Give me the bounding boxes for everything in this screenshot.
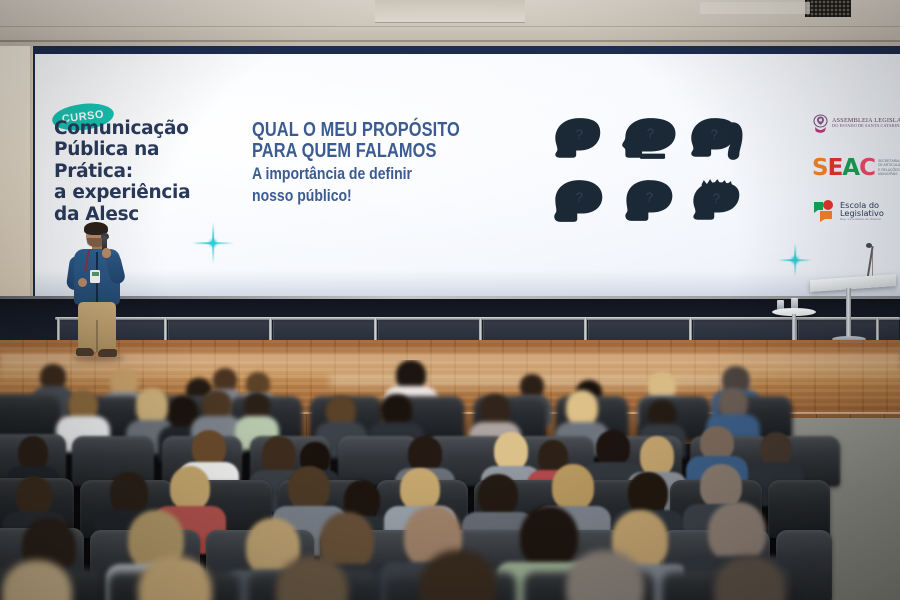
slide-title-line-4: a experiência — [54, 182, 234, 203]
svg-text:?: ? — [646, 126, 654, 141]
speech-bubble-icon — [812, 199, 836, 223]
seat — [0, 394, 60, 438]
subhead-line-2: nosso público! — [252, 187, 448, 205]
seac-letter-e: E — [828, 155, 843, 181]
presenter-right-hand — [102, 248, 111, 258]
air-conditioning-vent — [375, 0, 525, 23]
svg-text:?: ? — [713, 191, 721, 206]
alesc-line-2: DO ESTADO DE SANTA CATARINA — [832, 124, 900, 129]
head-silhouette-icon: ? — [617, 110, 680, 168]
head-silhouette-icon: ? — [617, 172, 680, 230]
screen-bottom-edge-highlight — [0, 296, 900, 299]
presenter — [66, 224, 128, 360]
presenter-shoe — [76, 348, 94, 356]
head-silhouette-icon: ? — [685, 110, 748, 168]
head-silhouette-icon: ? — [548, 110, 611, 168]
auditorium-presentation-scene: CURSO Comunicação Pública na Prática: a … — [0, 0, 900, 600]
vent-grill-icon — [805, 0, 851, 17]
headline-line-1: QUAL O MEU PROPÓSITO — [252, 120, 441, 141]
seac-letter-a: A — [842, 155, 859, 181]
presenter-id-badge-stripe — [92, 272, 99, 276]
lectern-column — [846, 288, 851, 340]
coat-of-arms-icon — [812, 114, 829, 133]
slide-title-line-2: Pública na — [54, 139, 234, 160]
seac-letter-c: C — [859, 155, 875, 181]
slide-title-line-5: da Alesc — [54, 204, 234, 225]
seac-subtitle: SECRETARIA DE ARTICULAÇÃO E RELAÇÕES MUN… — [878, 159, 900, 180]
svg-text:?: ? — [645, 190, 653, 205]
slide-title-line-1: Comunicação — [54, 118, 234, 139]
mic-cable — [872, 252, 873, 278]
svg-text:?: ? — [711, 127, 719, 142]
head-silhouette-icon: ? — [548, 172, 611, 230]
logo-escola-do-legislativo: Escola do Legislativo Dep. Lício Mauro d… — [812, 198, 900, 224]
svg-text:?: ? — [576, 190, 584, 205]
slide-headline-block: QUAL O MEU PROPÓSITO PARA QUEM FALAMOS A… — [252, 120, 482, 205]
ceiling-panel — [700, 2, 810, 14]
logo-seac: SEAC SECRETARIA DE ARTICULAÇÃO E RELAÇÕE… — [812, 156, 900, 180]
head-silhouette-icon: ? — [685, 172, 748, 230]
seac-wordmark: SEAC — [812, 157, 875, 180]
svg-text:?: ? — [576, 127, 584, 142]
audience-area — [0, 360, 900, 600]
seac-subtitle-line-4: MUNICIPAIS — [878, 172, 900, 177]
slide-course-title: Comunicação Pública na Prática: a experi… — [54, 118, 234, 225]
seac-letter-s: S — [812, 155, 828, 181]
screen-bottom-shading — [35, 270, 900, 296]
subhead-line-1: A importância de definir — [252, 165, 448, 183]
ceiling-seam-upper — [0, 26, 900, 27]
headline-line-2: PARA QUEM FALAMOS — [252, 141, 441, 162]
slide-logo-stack: ASSEMBLEIA LEGISLATIVA DO ESTADO DE SANT… — [812, 112, 900, 224]
escola-caption: Dep. Lício Mauro de Oliveira — [840, 218, 884, 221]
head-silhouettes-grid: ? ? ? ? — [548, 110, 748, 230]
presenter-leg-seam — [96, 320, 98, 352]
logo-assembleia-legislativa: ASSEMBLEIA LEGISLATIVA DO ESTADO DE SANT… — [812, 112, 900, 134]
ceiling-seam — [0, 40, 900, 42]
presenter-left-hand — [78, 278, 87, 287]
presenter-shoe — [98, 349, 117, 357]
slide-title-line-3: Prática: — [54, 161, 234, 182]
